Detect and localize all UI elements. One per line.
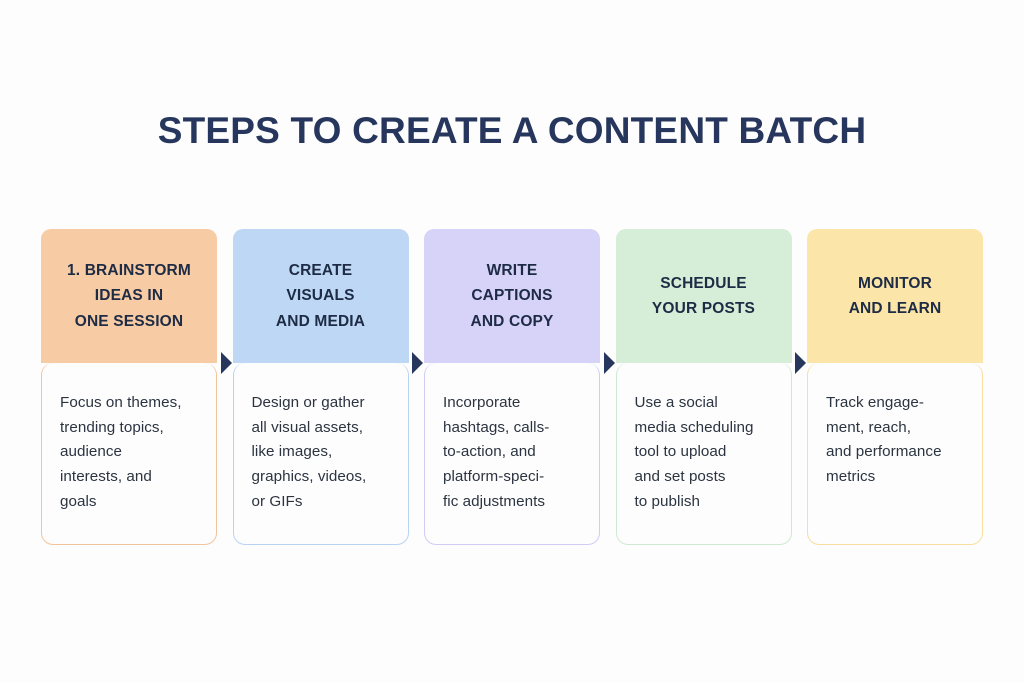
arrow-right-icon (221, 352, 232, 374)
step-title-1: 1. BRAINSTORM IDEAS IN ONE SESSION (67, 258, 191, 333)
step-title-3: WRITE CAPTIONS AND COPY (470, 258, 553, 333)
step-card-body-2: Design or gather all visual assets, like… (233, 363, 409, 545)
step-card-header-3: WRITE CAPTIONS AND COPY (424, 229, 600, 363)
step-title-4: SCHEDULE YOUR POSTS (652, 271, 755, 321)
step-card-4: SCHEDULE YOUR POSTSUse a social media sc… (616, 229, 792, 545)
step-description-5: Track engage- ment, reach, and performan… (826, 391, 966, 490)
arrow-right-icon (604, 352, 615, 374)
step-description-1: Focus on themes, trending topics, audien… (60, 391, 200, 514)
step-description-4: Use a social media scheduling tool to up… (635, 391, 775, 514)
step-card-body-1: Focus on themes, trending topics, audien… (41, 363, 217, 545)
step-card-header-5: MONITOR AND LEARN (807, 229, 983, 363)
step-title-2: CREATE VISUALS AND MEDIA (276, 258, 365, 333)
step-card-body-3: Incorporate hashtags, calls- to-action, … (424, 363, 600, 545)
arrow-right-icon (795, 352, 806, 374)
step-card-2: CREATE VISUALS AND MEDIADesign or gather… (233, 229, 409, 545)
step-card-header-4: SCHEDULE YOUR POSTS (616, 229, 792, 363)
steps-flow-container: 1. BRAINSTORM IDEAS IN ONE SESSIONFocus … (41, 229, 983, 545)
step-card-1: 1. BRAINSTORM IDEAS IN ONE SESSIONFocus … (41, 229, 217, 545)
step-description-2: Design or gather all visual assets, like… (252, 391, 392, 514)
arrow-right-icon (412, 352, 423, 374)
step-card-header-1: 1. BRAINSTORM IDEAS IN ONE SESSION (41, 229, 217, 363)
step-description-3: Incorporate hashtags, calls- to-action, … (443, 391, 583, 514)
step-card-3: WRITE CAPTIONS AND COPYIncorporate hasht… (424, 229, 600, 545)
step-title-5: MONITOR AND LEARN (849, 271, 942, 321)
step-card-5: MONITOR AND LEARNTrack engage- ment, rea… (807, 229, 983, 545)
page-title: STEPS TO CREATE A CONTENT BATCH (0, 110, 1024, 152)
step-card-body-5: Track engage- ment, reach, and performan… (807, 363, 983, 545)
step-card-header-2: CREATE VISUALS AND MEDIA (233, 229, 409, 363)
step-card-body-4: Use a social media scheduling tool to up… (616, 363, 792, 545)
